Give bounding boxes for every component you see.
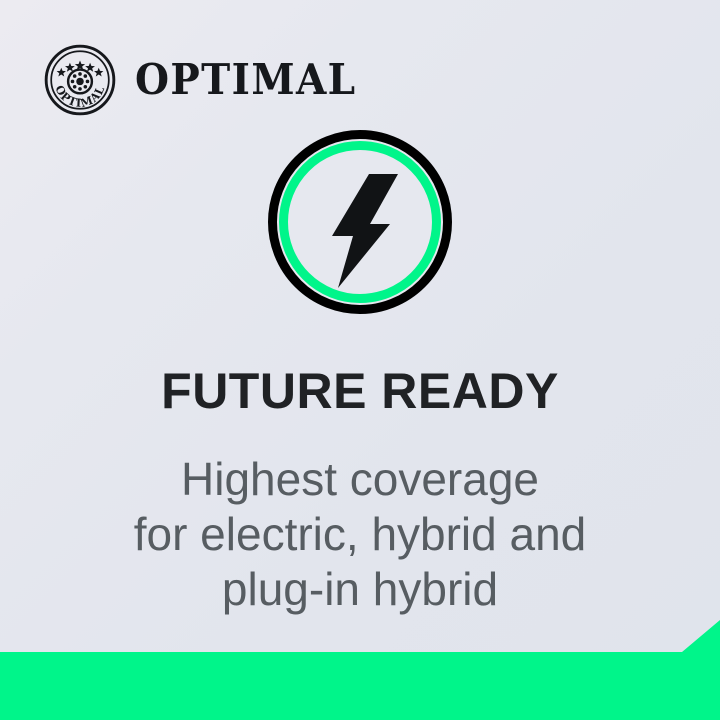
subheadline-line-2: for electric, hybrid and <box>0 507 720 562</box>
subheadline-line-3: plug-in hybrid <box>0 562 720 617</box>
subheadline: Highest coverage for electric, hybrid an… <box>0 452 720 617</box>
lightning-bolt-badge <box>266 128 454 316</box>
brand-wordmark: OPTIMAL <box>135 59 357 101</box>
bottom-banner <box>0 620 720 720</box>
promo-poster: OPTIMAL OPTIMAL <box>0 0 720 720</box>
optimal-circular-emblem-icon: OPTIMAL <box>44 44 116 116</box>
page-title: FUTURE READY <box>0 366 720 416</box>
brand-lockup: OPTIMAL OPTIMAL <box>44 44 373 116</box>
subheadline-line-1: Highest coverage <box>0 452 720 507</box>
